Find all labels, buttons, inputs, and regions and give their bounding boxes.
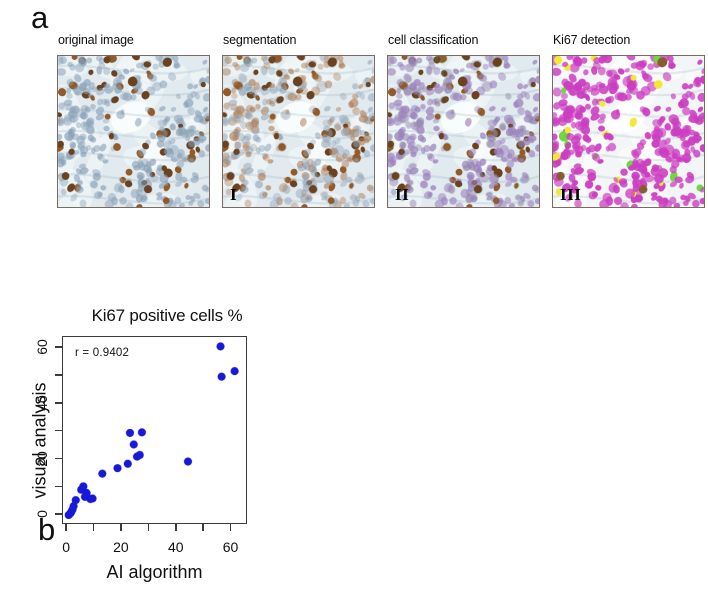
x-axis-title: AI algorithm xyxy=(62,562,247,583)
y-axis-tick-label: 0 xyxy=(35,510,49,518)
panel-b-scatter-panel: b Ki67 positive cells % r = 0.9402 AI al… xyxy=(0,250,360,597)
x-axis-tick xyxy=(175,524,177,531)
y-axis-tick xyxy=(55,402,62,404)
histology-image-segmentation xyxy=(223,56,374,207)
micrograph-caption: cell classification xyxy=(388,33,540,47)
panel-a-micrograph-strip: a original imagesegmentationIcell classi… xyxy=(0,0,708,225)
x-axis-tick-label: 40 xyxy=(168,540,184,554)
x-axis-tick xyxy=(148,524,150,531)
micrograph-classification: cell classificationII xyxy=(387,33,540,208)
micrograph-ki67: Ki67 detectionIII xyxy=(552,33,705,208)
micrograph-caption: Ki67 detection xyxy=(553,33,705,47)
y-axis-tick-label: 40 xyxy=(35,395,49,411)
panel-numeral-label: II xyxy=(395,186,409,203)
y-axis-tick-label: 20 xyxy=(35,451,49,467)
micrograph-frame: I xyxy=(222,55,375,208)
x-axis-tick-label: 20 xyxy=(113,540,129,554)
histology-image-classification xyxy=(388,56,539,207)
x-axis-tick-label: 60 xyxy=(223,540,239,554)
micrograph-caption: segmentation xyxy=(223,33,375,47)
y-axis-tick-label: 60 xyxy=(35,339,49,355)
y-axis-tick xyxy=(55,346,62,348)
micrograph-frame xyxy=(57,55,210,208)
panel-a-letter: a xyxy=(31,2,48,33)
x-axis-tick xyxy=(65,524,67,531)
panel-numeral-label: I xyxy=(230,186,237,203)
x-axis-tick xyxy=(120,524,122,531)
y-axis-tick xyxy=(55,458,62,460)
micrograph-original: original image xyxy=(57,33,210,208)
micrograph-frame: III xyxy=(552,55,705,208)
correlation-coefficient-label: r = 0.9402 xyxy=(75,347,129,359)
y-axis-tick xyxy=(55,430,62,432)
panel-b-letter: b xyxy=(38,514,55,545)
y-axis-tick xyxy=(55,513,62,515)
x-axis-tick xyxy=(202,524,204,531)
y-axis-tick xyxy=(55,374,62,376)
micrograph-caption: original image xyxy=(58,33,210,47)
chart-title: Ki67 positive cells % xyxy=(62,306,272,326)
micrograph-segmentation: segmentationI xyxy=(222,33,375,208)
histology-image-original xyxy=(58,56,209,207)
scatter-points-canvas xyxy=(63,337,246,523)
scatter-plot-area: r = 0.9402 xyxy=(62,336,247,524)
y-axis-tick xyxy=(55,486,62,488)
x-axis-tick xyxy=(230,524,232,531)
micrograph-frame: II xyxy=(387,55,540,208)
panel-numeral-label: III xyxy=(560,186,581,203)
x-axis-tick-label: 0 xyxy=(62,540,70,554)
y-axis-title: visual analysis xyxy=(30,371,51,511)
x-axis-tick xyxy=(93,524,95,531)
